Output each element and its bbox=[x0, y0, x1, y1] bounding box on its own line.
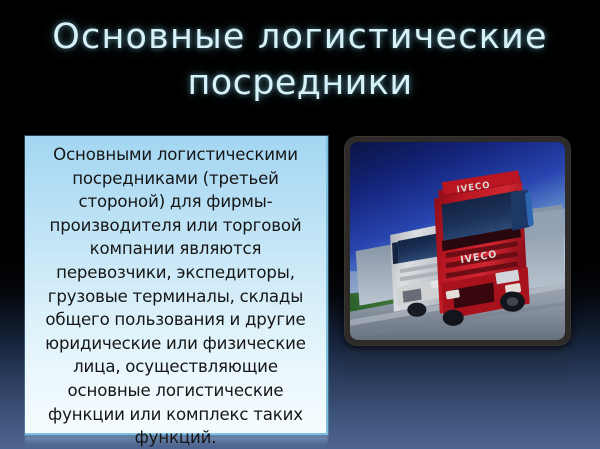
title-line-1: Основные логистические bbox=[0, 14, 600, 60]
photo-frame: IVECO bbox=[345, 137, 570, 345]
trucks-photo: IVECO bbox=[350, 142, 565, 340]
slide: Основные логистические посредники Основн… bbox=[0, 0, 600, 449]
trucks-illustration: IVECO bbox=[350, 142, 565, 340]
content-text-panel: Основными логистическими посредниками (т… bbox=[25, 136, 328, 435]
content-text-panel-inner: Основными логистическими посредниками (т… bbox=[25, 136, 326, 449]
photo-frame-reflection bbox=[347, 347, 568, 387]
page-title: Основные логистические посредники bbox=[0, 14, 600, 106]
body-paragraph: Основными логистическими посредниками (т… bbox=[34, 143, 317, 449]
title-line-2: посредники bbox=[0, 60, 600, 106]
